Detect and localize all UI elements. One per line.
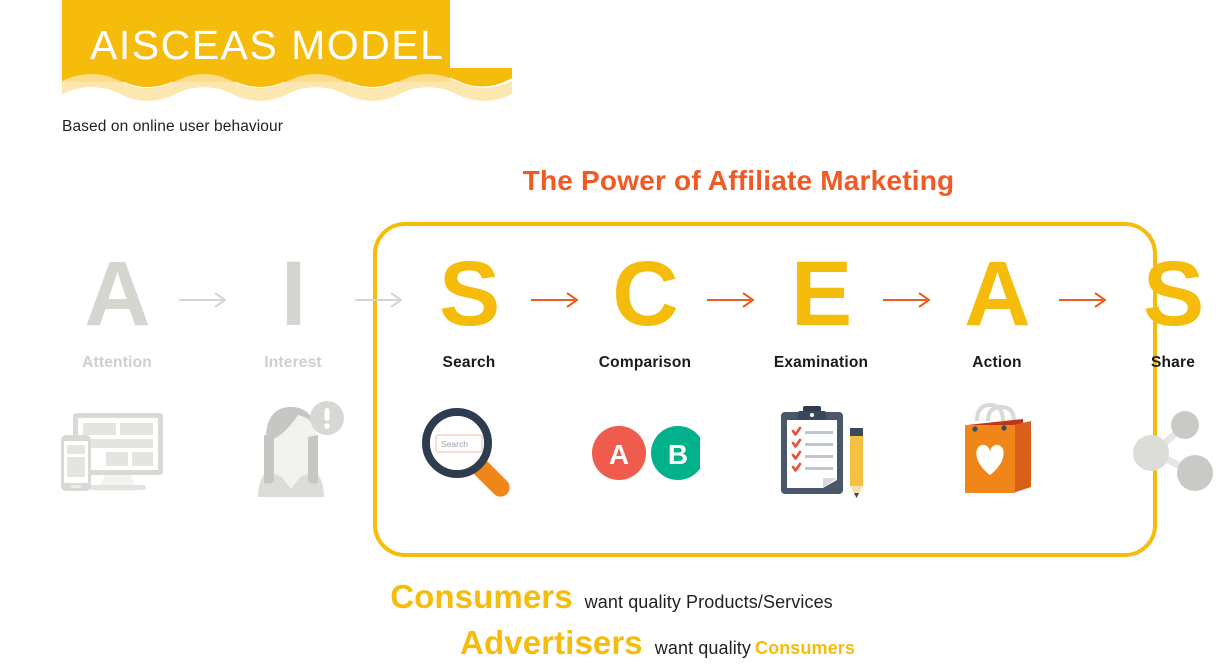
devices-icon (47, 398, 187, 508)
stage-examination[interactable]: E Examination (762, 248, 880, 508)
clipboard-icon (751, 398, 891, 508)
orange-arrow-icon-2 (704, 292, 762, 308)
stage-label-search: Search (443, 354, 496, 372)
ab-label-b: B (668, 439, 688, 470)
statement-advertisers-strong: Advertisers (460, 624, 643, 662)
ab-label-a: A (609, 439, 629, 470)
stage-letter-e: E (791, 248, 851, 340)
stage-interest[interactable]: I Interest (234, 248, 352, 508)
statement-advertisers: Advertisers want quality Consumers (42, 624, 1231, 662)
statement-consumers: Consumers want quality Products/Services (0, 578, 1227, 616)
stage-share[interactable]: S Share (1114, 248, 1231, 508)
header-subtitle: Based on online user behaviour (62, 118, 283, 136)
stage-letter-c: C (612, 248, 677, 340)
page-title-text: The Power of Affiliate Marketing (523, 165, 955, 197)
magnifier-icon: Search (399, 398, 539, 508)
gray-arrow-icon-1 (176, 292, 234, 308)
stage-letter-a2: A (964, 248, 1029, 340)
stage-label-share: Share (1151, 354, 1195, 372)
stage-letter-s1: S (439, 248, 499, 340)
user-alert-icon (223, 398, 363, 508)
stage-label-examination: Examination (774, 354, 868, 372)
stage-letter-i: I (281, 248, 306, 340)
stage-comparison[interactable]: C Comparison A B (586, 248, 704, 508)
infographic-canvas: AISCEAS MODEL Based on online user behav… (0, 0, 1231, 670)
orange-arrow-icon-3 (880, 292, 938, 308)
statement-consumers-strong: Consumers (390, 578, 572, 616)
orange-arrow-icon-4 (1056, 292, 1114, 308)
magnifier-placeholder-text: Search (441, 439, 468, 449)
statement-advertisers-rest: want quality (655, 638, 751, 659)
stage-search[interactable]: S Search Search (410, 248, 528, 508)
shopping-bag-icon (927, 398, 1067, 508)
bottom-statements: Consumers want quality Products/Services… (0, 578, 1231, 662)
wave-decoration (62, 68, 512, 110)
page-title: The Power of Affiliate Marketing (0, 165, 1231, 197)
banner-title: AISCEAS MODEL (90, 22, 444, 69)
stage-label-attention: Attention (82, 354, 152, 372)
statement-consumers-rest: want quality Products/Services (585, 592, 833, 613)
orange-arrow-icon-1 (528, 292, 586, 308)
stage-letter-s2: S (1143, 248, 1203, 340)
ab-test-icon: A B (575, 398, 715, 508)
stage-attention[interactable]: A Attention (58, 248, 176, 508)
gray-arrow-icon-2 (352, 292, 410, 308)
stage-label-interest: Interest (264, 354, 322, 372)
stage-label-action: Action (972, 354, 1021, 372)
statement-advertisers-highlight: Consumers (755, 638, 855, 659)
share-icon (1103, 398, 1231, 508)
stage-letter-a: A (84, 248, 149, 340)
stage-label-comparison: Comparison (599, 354, 691, 372)
aisceas-stage-row: A Attention (0, 248, 1231, 548)
stage-action[interactable]: A Action (938, 248, 1056, 508)
